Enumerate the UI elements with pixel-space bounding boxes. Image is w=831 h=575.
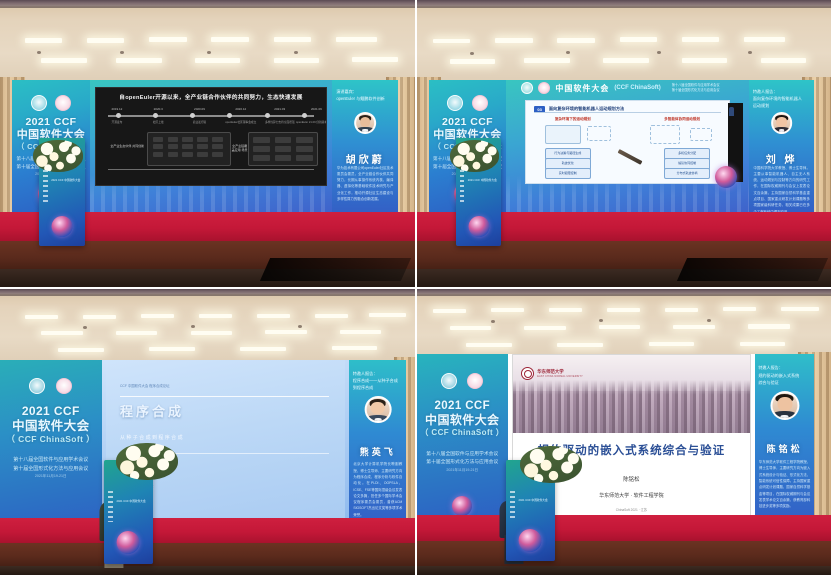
timeline-date-3: 2020.09 bbox=[194, 107, 205, 111]
stage-carpet bbox=[417, 515, 831, 541]
flower-arrangement bbox=[450, 140, 500, 172]
banner-sub-2: 第十届全国形式化方法与应用会议 bbox=[419, 459, 505, 467]
ceiling-lights bbox=[0, 309, 415, 366]
stage-backdrop: 2021 CCF 中国软件大会 （ CCF ChinaSoft ） 第十八届全国… bbox=[417, 354, 815, 520]
ccf-logo-icon bbox=[31, 95, 47, 111]
speaker-role-line-3: 综合与验证 bbox=[758, 379, 811, 386]
banner-sub-1: 第十八届全国软件与应用学术会议 bbox=[3, 456, 98, 465]
speaker-role-line-2: 程序合成——从种子合成 bbox=[353, 377, 403, 384]
floor-reflection bbox=[677, 258, 828, 281]
slide-rule bbox=[534, 112, 720, 113]
city-skyline bbox=[513, 380, 750, 433]
banner-year: 2021 CCF bbox=[432, 116, 503, 129]
photo-panel-bottom-left: 2021 CCF 中国软件大会 （ CCF ChinaSoft ） 第十八届全国… bbox=[0, 289, 415, 575]
timeline-event-3: 商业发行版 bbox=[193, 120, 206, 124]
timeline-date-1: 2019.12 bbox=[111, 107, 122, 111]
banner-year: 2021 CCF bbox=[16, 116, 87, 129]
banner-title: 2021 CCF 中国软件大会 （ CCF ChinaSoft ） bbox=[4, 404, 97, 444]
slide-subtitle: 从种子合成到程序合成 bbox=[120, 434, 184, 441]
presentation-screen: 自openEuler开源以来，全产业链合作伙伴的共同努力，生态快速发展 2019… bbox=[95, 87, 326, 187]
stage-carpet bbox=[0, 518, 415, 544]
chinasoft-seal-icon bbox=[538, 82, 550, 94]
slide-left-label: 全产业生态伙伴 共同创新 bbox=[110, 144, 144, 148]
ceiling-rail bbox=[417, 294, 831, 296]
chinasoft-seal-icon bbox=[56, 378, 72, 394]
slide-title: 自openEuler开源以来，全产业链合作伙伴的共同努力，生态快速发展 bbox=[105, 93, 316, 101]
banner-date: 2021年11月19-21日 bbox=[3, 473, 98, 479]
banner-name-cn: 中国软件大会 bbox=[4, 419, 97, 434]
stage-backdrop: 2021 CCF 中国软件大会 （ CCF ChinaSoft ） 第十八届全国… bbox=[0, 360, 406, 523]
speaker-panel: 特邀人报告： 面向复杂环境的智能机器人 运动规划 刘 烨 中国科学院大学教授、博… bbox=[749, 80, 815, 212]
slide-box-left-3: 实时避障控制 bbox=[545, 168, 592, 179]
speaker-role-line-2: 面向复杂环境的智能机器人 bbox=[753, 95, 811, 102]
flower-arrangement bbox=[116, 443, 178, 480]
photo-panel-top-right: 2021 CCF 中国软件大会 （ CCF ChinaSoft ） 第十八届全国… bbox=[417, 0, 831, 287]
banner-date: 2021年11月19-21日 bbox=[419, 467, 505, 473]
brain-globe-icon bbox=[452, 496, 472, 516]
speaker-role: 特邀人报告： 面向复杂环境的智能机器人 运动规划 bbox=[753, 88, 811, 109]
speaker-role-line-1: 特邀人报告： bbox=[753, 88, 811, 95]
slide-rule-top bbox=[120, 396, 329, 397]
university-name-en: EAST CHINA NORMAL UNIVERSITY bbox=[537, 375, 583, 378]
timeline-event-6: openEuler 21.09 创新版本发布 bbox=[296, 120, 327, 124]
timeline-event-2: 社区上线 bbox=[153, 120, 164, 124]
floor-reflection bbox=[260, 258, 411, 281]
university-name-cn: 华东师范大学 bbox=[537, 369, 563, 374]
speaker-avatar bbox=[364, 396, 391, 423]
timeline-date-2: 2020.3 bbox=[154, 107, 163, 111]
speaker-role-line-1: 特邀人报告： bbox=[758, 364, 811, 371]
stage-front-panel bbox=[0, 543, 415, 566]
conference-room: 2021 CCF 中国软件大会 （ CCF ChinaSoft ） 第十八届全国… bbox=[417, 0, 831, 287]
timeline-event-5: 多样性算力支持全面增强 bbox=[265, 120, 295, 124]
slide-title: 程序合成 bbox=[120, 401, 184, 420]
slide-column-left-title: 复杂环境下的运动规划 bbox=[538, 117, 607, 122]
speaker-role-line-1: 特邀人报告： bbox=[353, 370, 403, 377]
application-grid-right bbox=[248, 132, 319, 166]
conference-room: 2021 CCF 中国软件大会 （ CCF ChinaSoft ） 第十八届全国… bbox=[417, 289, 831, 575]
photo-panel-top-left: 2021 CCF 中国软件大会 （ CCF ChinaSoft ） 第十八届全国… bbox=[0, 0, 415, 287]
conference-room: 2021 CCF 中国软件大会 （ CCF ChinaSoft ） 第十八届全国… bbox=[0, 0, 415, 287]
banner-year: 2021 CCF bbox=[420, 399, 504, 413]
chinasoft-seal-icon bbox=[472, 95, 488, 111]
stage-front-panel bbox=[417, 541, 831, 567]
podium-globe-icon bbox=[468, 216, 489, 237]
slide-right-label: 全产业链覆盖应用 场景 bbox=[232, 144, 248, 152]
speaker-panel: 特邀人报告： 程序合成——从种子合成 到程序合成 熊英飞 北京大学计算机学院长聘… bbox=[349, 360, 406, 523]
collage-grid: 2021 CCF 中国软件大会 （ CCF ChinaSoft ） 第十八届全国… bbox=[0, 0, 831, 575]
banner-sub-1: 第十八届全国软件与应用学术会议 bbox=[419, 451, 505, 459]
ccf-logo-icon bbox=[447, 95, 463, 111]
slide-baseline bbox=[108, 169, 314, 170]
backdrop-side-note: 第十八届全国软件与应用学术会议 第十届全国形式化方法与应用会议 bbox=[672, 83, 720, 93]
banner-subtitles: 第十八届全国软件与应用学术会议 第十届全国形式化方法与应用会议 2021年11月… bbox=[419, 451, 505, 473]
speaker-role-line-1: 演讲嘉宾： bbox=[336, 88, 394, 95]
ceiling-rail bbox=[0, 6, 415, 8]
photo-collage: 2021 CCF 中国软件大会 （ CCF ChinaSoft ） 第十八届全国… bbox=[0, 0, 831, 575]
speaker-role-line-2: 规约驱动的嵌入式系统 bbox=[758, 372, 811, 379]
speaker-role: 特邀人报告： 程序合成——从种子合成 到程序合成 bbox=[353, 370, 403, 391]
flower-arrangement bbox=[520, 446, 582, 483]
speaker-bio: 华为技术有限公司openEuler社区技术委员会委员，全产业链合作伙伴共同努力，… bbox=[337, 165, 393, 203]
banner-subtitles: 第十八届全国软件与应用学术会议 第十届全国形式化方法与应用会议 2021年11月… bbox=[3, 456, 98, 479]
podium-globe-icon bbox=[519, 529, 542, 552]
banner-name-en: （ CCF ChinaSoft ） bbox=[420, 428, 504, 438]
speaker-panel: 演讲嘉宾： openEuler 与鲲鹏软件创新 胡欣蔚 华为技术有限公司open… bbox=[332, 80, 398, 212]
speaker-bio: 中国科学院大学教授、博士生导师。主要从事智能机器人、自主无人系统、运动规划与控制… bbox=[753, 165, 809, 212]
university-name: 华东师范大学 EAST CHINA NORMAL UNIVERSITY bbox=[537, 369, 583, 378]
hall-floor bbox=[0, 566, 415, 575]
speaker-panel: 特邀人报告： 规约驱动的嵌入式系统 综合与验证 陈铭松 华东师范大学软件工程学院… bbox=[755, 354, 815, 520]
timeline-event-1: 开源发布 bbox=[112, 120, 123, 124]
banner-logos bbox=[0, 378, 102, 394]
ceiling-lights bbox=[0, 27, 415, 87]
speaker-role: 演讲嘉宾： openEuler 与鲲鹏软件创新 bbox=[336, 88, 394, 102]
ccf-logo-icon bbox=[29, 378, 45, 394]
banner-title: 2021 CCF 中国软件大会 （ CCF ChinaSoft ） bbox=[420, 399, 504, 437]
ccf-logo-icon bbox=[441, 373, 457, 389]
podium-globe-icon bbox=[117, 531, 140, 554]
conference-banner-left: 2021 CCF 中国软件大会 （ CCF ChinaSoft ） 第十八届全国… bbox=[0, 360, 102, 523]
timeline-event-4: openEuler社区理事会成立 bbox=[225, 120, 256, 124]
flower-arrangement bbox=[33, 140, 83, 172]
university-seal-icon bbox=[521, 367, 534, 380]
timeline-axis bbox=[108, 115, 314, 117]
speaker-bio: 华东师范大学软件工程学院教授、博士生导师，主要研究方向为嵌入式系统设计与验证、形… bbox=[759, 459, 810, 509]
conference-banner-left: 2021 CCF 中国软件大会 （ CCF ChinaSoft ） 第十八届全国… bbox=[417, 354, 509, 520]
slide-arrow bbox=[618, 149, 643, 165]
timeline-date-6: 2021.09 bbox=[311, 107, 322, 111]
conference-room: 2021 CCF 中国软件大会 （ CCF ChinaSoft ） 第十八届全国… bbox=[0, 289, 415, 575]
partner-grid-left bbox=[147, 132, 232, 166]
university-logo: 华东师范大学 EAST CHINA NORMAL UNIVERSITY bbox=[521, 367, 583, 380]
speaker-name: 熊英飞 bbox=[349, 445, 406, 458]
backdrop-header: 中国软件大会 (CCF ChinaSoft) 第十八届全国软件与应用学术会议 第… bbox=[514, 80, 745, 96]
ceiling-lights bbox=[417, 27, 831, 87]
speaker-role-line-3: 到程序合成 bbox=[353, 384, 403, 391]
speaker-role-line-2: openEuler 与鲲鹏软件创新 bbox=[336, 95, 394, 102]
diagram-left-aux bbox=[587, 126, 611, 141]
slide-kicker: CCF 中国软件大会 程序合成论坛 bbox=[120, 383, 170, 388]
ceiling-rail bbox=[0, 294, 415, 296]
podium-text: 2021 CCF 中国软件大会 bbox=[519, 499, 552, 504]
backdrop-title-en: (CCF ChinaSoft) bbox=[614, 85, 660, 91]
speaker-role: 特邀人报告： 规约驱动的嵌入式系统 综合与验证 bbox=[758, 364, 811, 385]
speaker-avatar bbox=[770, 391, 799, 420]
ceiling-rail bbox=[417, 6, 831, 8]
speaker-avatar bbox=[354, 112, 376, 134]
speaker-bio: 北京大学计算机学院长聘副教授、博士生导师，主要研究方向为程序合成、程序分析与软件… bbox=[353, 461, 402, 518]
ccf-logo-icon bbox=[521, 82, 533, 94]
diagram-right bbox=[650, 125, 680, 144]
banner-year: 2021 CCF bbox=[4, 404, 97, 419]
diagram-left bbox=[545, 125, 581, 144]
diagram-right-aux bbox=[690, 128, 712, 141]
speaker-name: 陈铭松 bbox=[755, 442, 815, 455]
banner-logos bbox=[12, 95, 89, 111]
banner-name-en: （ CCF ChinaSoft ） bbox=[4, 434, 97, 444]
podium-text: 2021 CCF 中国软件大会 bbox=[117, 500, 150, 505]
podium-globe-icon bbox=[52, 216, 73, 237]
presentation-screen: 03 面向复杂环境的智能机器人运动规划方法 复杂环境下的运动规划 多智能体协同运… bbox=[525, 100, 729, 184]
backdrop-title-cn: 中国软件大会 bbox=[555, 83, 609, 94]
speaker-role-line-3: 运动规划 bbox=[753, 102, 811, 109]
banner-name-cn: 中国软件大会 bbox=[420, 413, 504, 428]
timeline-date-5: 2021.03 bbox=[274, 107, 285, 111]
banner-sub-2: 第十届全国形式化方法与应用会议 bbox=[3, 465, 98, 474]
chinasoft-seal-icon bbox=[55, 95, 71, 111]
podium-text: 2021 CCF 中国软件大会 bbox=[51, 179, 81, 184]
chinasoft-seal-icon bbox=[467, 373, 483, 389]
banner-logos bbox=[417, 373, 509, 389]
hall-floor bbox=[417, 566, 831, 575]
podium-text: 2021 CCF 中国软件大会 bbox=[468, 179, 498, 184]
photo-panel-bottom-right: 2021 CCF 中国软件大会 （ CCF ChinaSoft ） 第十八届全国… bbox=[417, 289, 831, 575]
banner-logos bbox=[429, 95, 506, 111]
slide-column-right-title: 多智能体协同运动规划 bbox=[648, 117, 717, 122]
timeline-date-4: 2020.12 bbox=[235, 107, 246, 111]
slide-box-right-3: 分布式轨迹协商 bbox=[664, 168, 711, 179]
speaker-avatar bbox=[771, 112, 793, 134]
